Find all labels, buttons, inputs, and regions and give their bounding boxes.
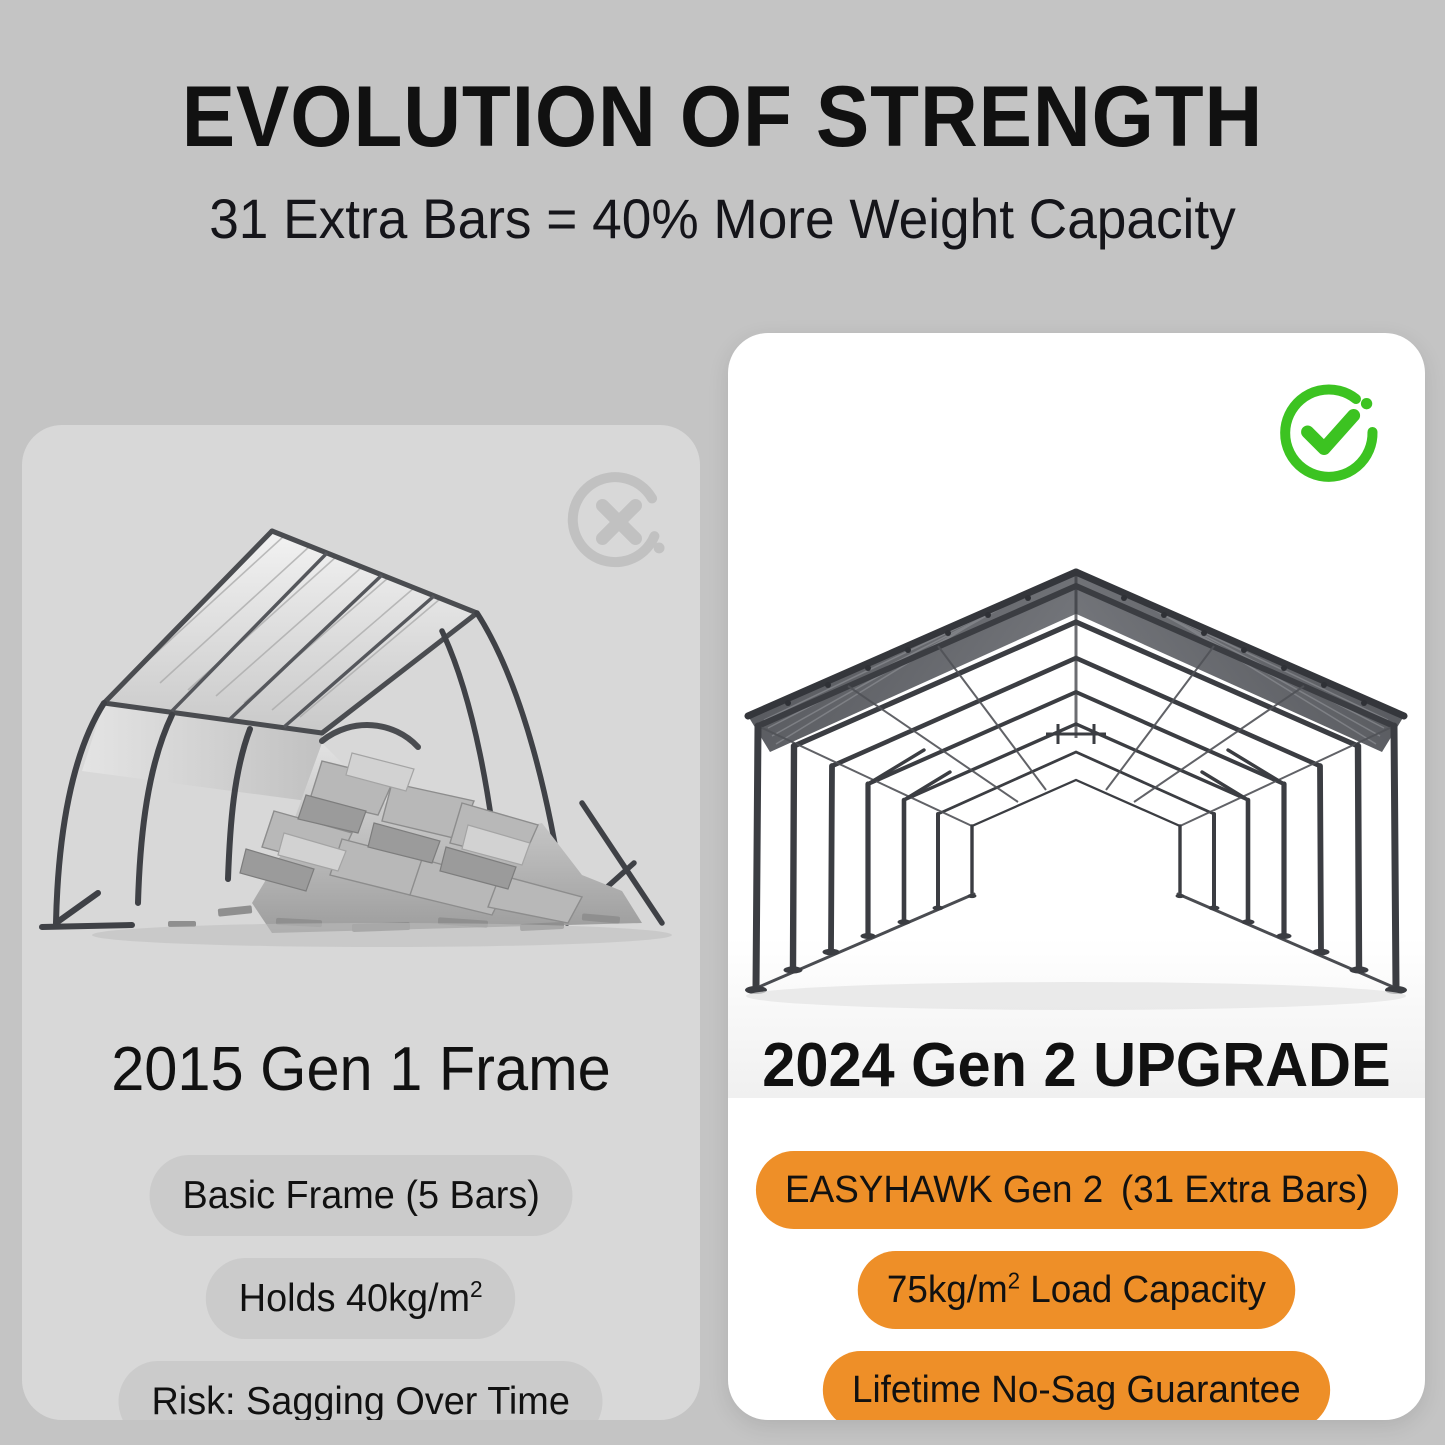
- card-title-gen2: 2024 Gen 2 UPGRADE: [742, 1033, 1411, 1098]
- feature-list-gen2: EASYHAWK Gen 2 (31 Extra Bars) 75kg/m2 L…: [728, 1151, 1425, 1420]
- card-gen1: 2015 Gen 1 Frame Basic Frame (5 Bars) Ho…: [22, 425, 700, 1420]
- feature-pill-superscript: 2: [1008, 1267, 1020, 1293]
- header: EVOLUTION OF STRENGTH 31 Extra Bars = 40…: [0, 0, 1445, 250]
- feature-pill: Holds 40kg/m2: [206, 1258, 516, 1339]
- page-title: EVOLUTION OF STRENGTH: [51, 0, 1395, 162]
- feature-pill-label: Lifetime No-Sag Guarantee: [852, 1369, 1301, 1411]
- card-title-gen1: 2015 Gen 1 Frame: [36, 1037, 687, 1102]
- feature-pill-label: Basic Frame (5 Bars): [182, 1174, 539, 1217]
- feature-pill-superscript: 2: [470, 1276, 483, 1302]
- feature-pill-label: 75kg/m: [887, 1269, 1008, 1311]
- card-gen2: 2024 Gen 2 UPGRADE EASYHAWK Gen 2 (31 Ex…: [728, 333, 1425, 1420]
- feature-pill: Basic Frame (5 Bars): [149, 1155, 572, 1236]
- feature-pill-label: EASYHAWK Gen 2 (31 Extra Bars): [785, 1169, 1369, 1211]
- feature-pill: 75kg/m2 Load Capacity: [858, 1251, 1295, 1329]
- circle-check-icon: [1271, 373, 1389, 491]
- feature-pill-label-suffix: Load Capacity: [1020, 1269, 1266, 1311]
- feature-pill: Lifetime No-Sag Guarantee: [823, 1351, 1330, 1420]
- feature-pill: Risk: Sagging Over Time: [119, 1361, 603, 1420]
- feature-list-gen1: Basic Frame (5 Bars) Holds 40kg/m2 Risk:…: [22, 1155, 700, 1420]
- page-subtitle: 31 Extra Bars = 40% More Weight Capacity: [36, 162, 1409, 250]
- intact-carport-illustration: [728, 538, 1425, 1098]
- feature-pill: EASYHAWK Gen 2 (31 Extra Bars): [756, 1151, 1398, 1229]
- feature-pill-label: Holds 40kg/m: [239, 1277, 470, 1320]
- feature-pill-label: Risk: Sagging Over Time: [152, 1380, 570, 1420]
- collapsed-carport-illustration: [22, 503, 700, 1043]
